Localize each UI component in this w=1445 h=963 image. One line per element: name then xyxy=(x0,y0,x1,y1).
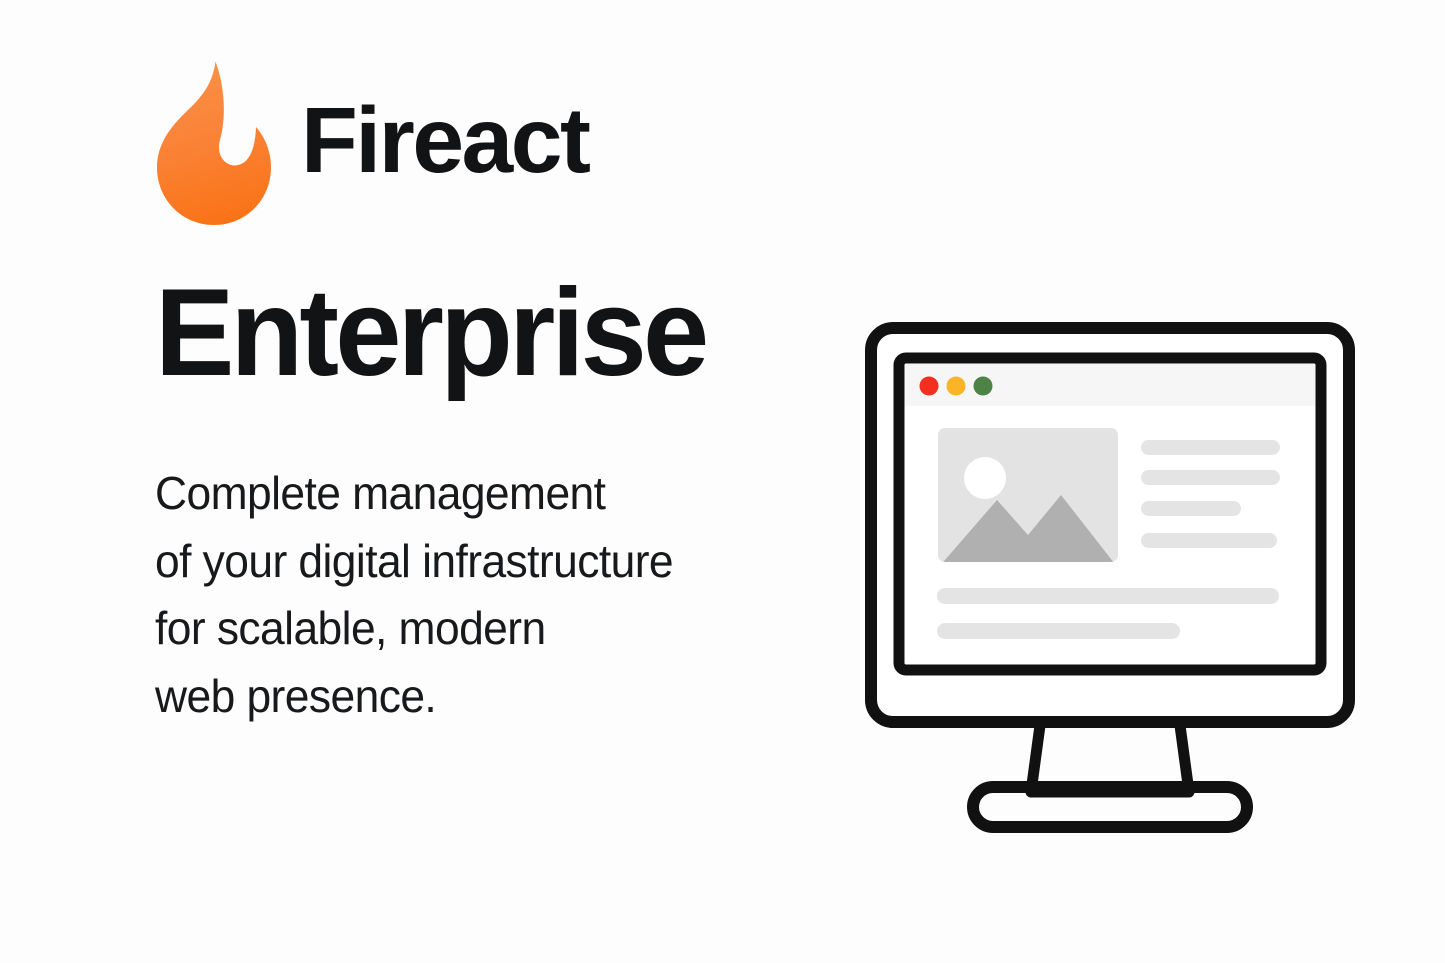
flame-icon xyxy=(155,60,273,226)
monitor-stand-base xyxy=(973,787,1247,827)
brand-name: Fireact xyxy=(301,94,588,193)
skeleton-line-3 xyxy=(1141,501,1241,516)
promo-card: Fireact Enterprise Complete management o… xyxy=(0,0,1445,963)
page-title: Enterprise xyxy=(155,268,705,398)
hero-text-column: Fireact Enterprise Complete management o… xyxy=(155,0,845,963)
skeleton-line-2 xyxy=(1141,470,1280,485)
brand-lockup: Fireact xyxy=(155,58,588,228)
monitor-stand-neck xyxy=(1031,718,1189,792)
desktop-monitor-illustration xyxy=(845,300,1375,845)
image-placeholder xyxy=(938,428,1118,568)
subcopy-line-2: of your digital infrastructure xyxy=(155,528,831,596)
screen-content xyxy=(905,364,1315,664)
browser-titlebar xyxy=(905,364,1315,406)
subcopy-line-4: web presence. xyxy=(155,663,831,731)
close-dot xyxy=(920,377,939,396)
skeleton-line-4 xyxy=(1141,533,1277,548)
subcopy-line-1: Complete management xyxy=(155,460,831,528)
maximize-dot xyxy=(974,377,993,396)
minimize-dot xyxy=(947,377,966,396)
skeleton-line-6 xyxy=(937,623,1180,639)
subcopy-line-3: for scalable, modern xyxy=(155,595,831,663)
skeleton-line-1 xyxy=(1141,440,1280,455)
sun-icon xyxy=(964,457,1006,499)
hero-subcopy: Complete management of your digital infr… xyxy=(155,460,831,730)
skeleton-line-5 xyxy=(937,588,1279,604)
